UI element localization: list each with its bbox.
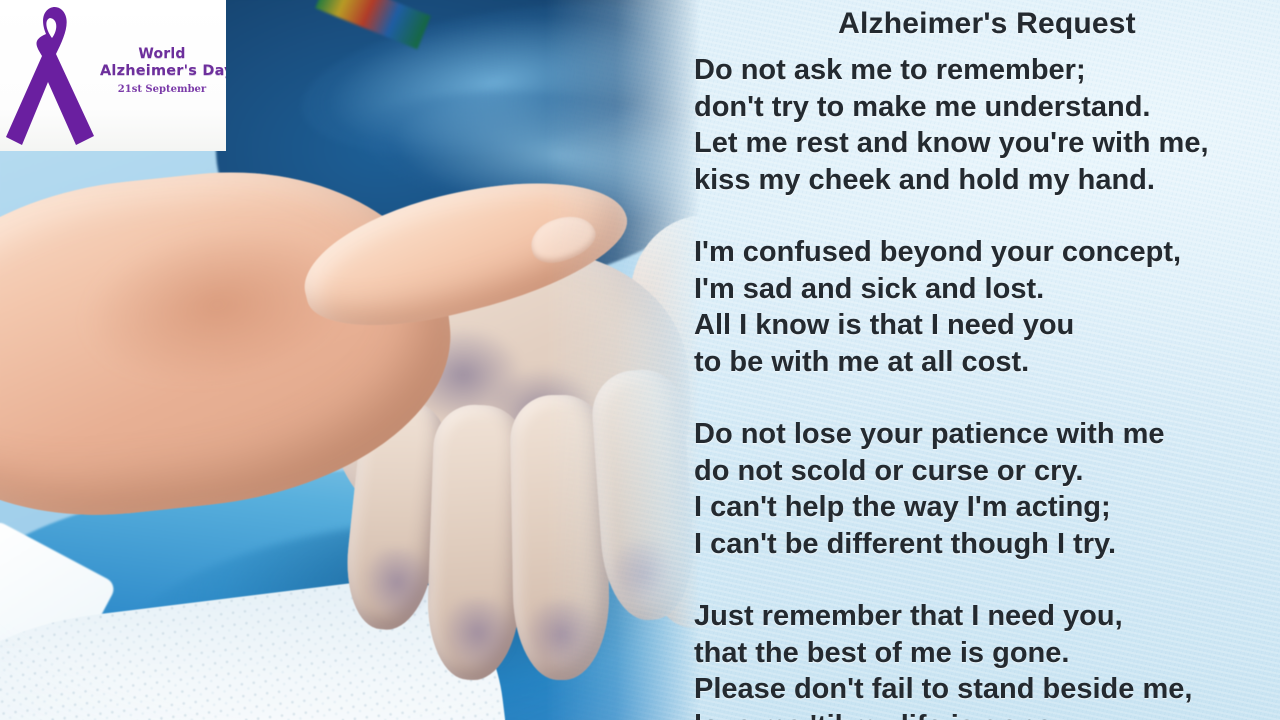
poem-line: I'm sad and sick and lost. xyxy=(694,271,1280,308)
badge-line-1: World xyxy=(100,46,224,63)
poem-block: Alzheimer's Request Do not ask me to rem… xyxy=(694,0,1280,720)
poem-line: that the best of me is gone. xyxy=(694,635,1280,672)
poem-line: kiss my cheek and hold my hand. xyxy=(694,162,1280,199)
poem-stanzas: Do not ask me to remember;don't try to m… xyxy=(694,52,1280,720)
badge-line-3: 21st September xyxy=(100,83,224,97)
poem-line: I can't be different though I try. xyxy=(694,526,1280,563)
badge-text-block: World Alzheimer's Day 21st September xyxy=(100,46,224,97)
poem-line: to be with me at all cost. xyxy=(694,344,1280,381)
awareness-ribbon-icon xyxy=(6,4,102,149)
poem-stanza: Do not ask me to remember;don't try to m… xyxy=(694,52,1280,198)
poem-line: I'm confused beyond your concept, xyxy=(694,234,1280,271)
poem-line: I can't help the way I'm acting; xyxy=(694,489,1280,526)
poster: World Alzheimer's Day 21st September Alz… xyxy=(0,0,1280,720)
poem-stanza: Just remember that I need you,that the b… xyxy=(694,598,1280,720)
world-alzheimers-day-badge: World Alzheimer's Day 21st September xyxy=(0,0,226,151)
poem-line: Let me rest and know you're with me, xyxy=(694,125,1280,162)
poem-line: do not scold or curse or cry. xyxy=(694,453,1280,490)
poem-line: love me 'til my life is gone. xyxy=(694,708,1280,720)
poem-stanza: Do not lose your patience with medo not … xyxy=(694,416,1280,562)
poem-line: Just remember that I need you, xyxy=(694,598,1280,635)
poem-line: Please don't fail to stand beside me, xyxy=(694,671,1280,708)
badge-line-2: Alzheimer's Day xyxy=(100,63,224,80)
poem-line: Do not lose your patience with me xyxy=(694,416,1280,453)
poem-stanza: I'm confused beyond your concept,I'm sad… xyxy=(694,234,1280,380)
poem-line: Do not ask me to remember; xyxy=(694,52,1280,89)
poem-title: Alzheimer's Request xyxy=(694,0,1280,44)
poem-line: don't try to make me understand. xyxy=(694,89,1280,126)
poem-line: All I know is that I need you xyxy=(694,307,1280,344)
